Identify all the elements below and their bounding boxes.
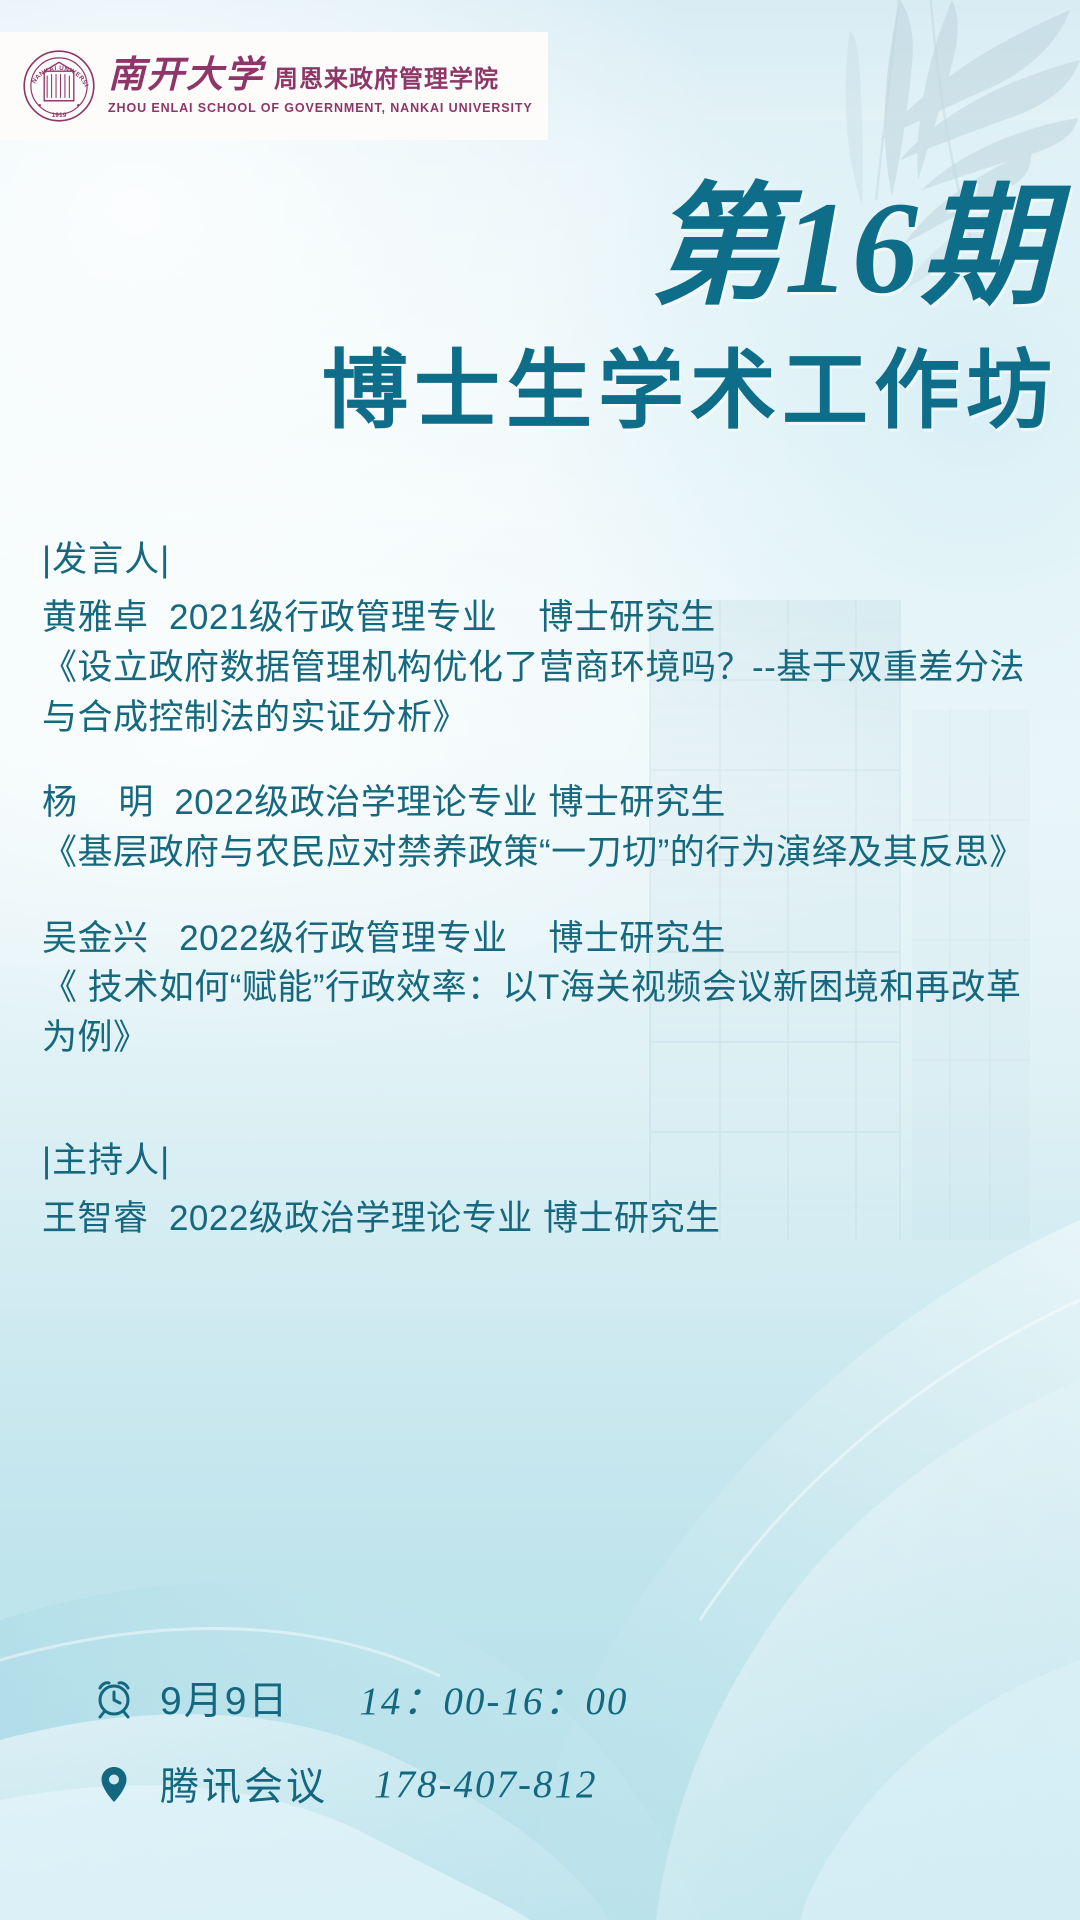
logo-school-name: 周恩来政府管理学院 xyxy=(274,68,499,94)
event-time: 14：00-16：00 xyxy=(359,1670,628,1726)
speaker-paper-title: 《基层政府与农民应对禁养政策“一刀切”的行为演绎及其反思》 xyxy=(42,828,1042,878)
nankai-seal-icon: 1919 NANKAI UNIVERSITY xyxy=(22,49,96,123)
speaker-entry: 杨 明 2022级政治学理论专业 博士研究生 《基层政府与农民应对禁养政策“一刀… xyxy=(42,778,1042,877)
speaker-paper-title: 《设立政府数据管理机构优化了营商环境吗？--基于双重差分法与合成控制法的实证分析… xyxy=(42,643,1042,742)
host-section: |主持人| 王智睿 2022级政治学理论专业 博士研究生 xyxy=(42,1137,1042,1244)
event-details-footer: 9月9日 14：00-16：00 腾讯会议 178-407-812 xyxy=(92,1670,992,1842)
meeting-code: 178-407-812 xyxy=(374,1762,597,1807)
host-section-label: |主持人| xyxy=(42,1137,1042,1184)
svg-text:1919: 1919 xyxy=(52,112,67,119)
speaker-name-line: 黄雅卓 2021级行政管理专业 博士研究生 xyxy=(42,593,1042,643)
speakers-section-label: |发言人| xyxy=(42,536,1042,583)
datetime-row: 9月9日 14：00-16：00 xyxy=(92,1670,992,1726)
host-name-line: 王智睿 2022级政治学理论专业 博士研究生 xyxy=(42,1194,1042,1244)
speaker-paper-title: 《 技术如何“赋能”行政效率：以T海关视频会议新困境和再改革为例》 xyxy=(42,963,1042,1062)
issue-number: 第16期 xyxy=(650,182,1054,314)
poster-content: |发言人| 黄雅卓 2021级行政管理专业 博士研究生 《设立政府数据管理机构优… xyxy=(42,536,1042,1244)
speaker-name-line: 吴金兴 2022级行政管理专业 博士研究生 xyxy=(42,914,1042,964)
logo-english-name: ZHOU ENLAI SCHOOL OF GOVERNMENT, NANKAI … xyxy=(108,101,533,115)
event-date: 9月9日 xyxy=(160,1670,289,1726)
speaker-name-line: 杨 明 2022级政治学理论专业 博士研究生 xyxy=(42,778,1042,828)
speaker-entry: 吴金兴 2022级行政管理专业 博士研究生 《 技术如何“赋能”行政效率：以T海… xyxy=(42,914,1042,1063)
location-row: 腾讯会议 178-407-812 xyxy=(92,1756,992,1812)
nankai-logo-card: 1919 NANKAI UNIVERSITY 南开大学 周恩来政府管理学院 ZH… xyxy=(0,32,548,140)
meeting-platform: 腾讯会议 xyxy=(160,1756,328,1812)
speaker-entry: 黄雅卓 2021级行政管理专业 博士研究生 《设立政府数据管理机构优化了营商环境… xyxy=(42,593,1042,742)
alarm-clock-icon xyxy=(92,1676,136,1720)
page-title: 博士生学术工作坊 xyxy=(322,348,1058,434)
logo-university-name: 南开大学 xyxy=(108,57,264,94)
location-pin-icon xyxy=(92,1762,136,1806)
